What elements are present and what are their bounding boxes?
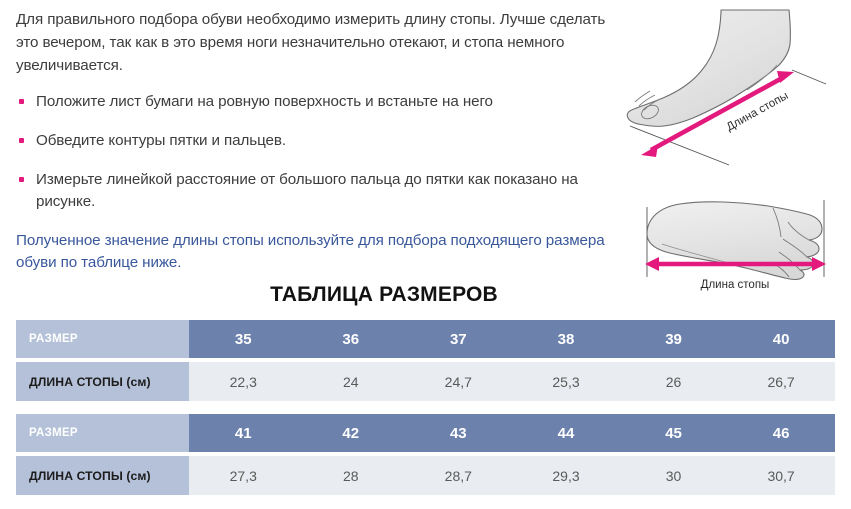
sole-outline [647,202,822,280]
row-label-foot-length: ДЛИНА СТОПЫ (см) [16,362,189,401]
bullet-icon [19,99,24,104]
length-cell: 24 [297,362,404,401]
bullet-icon [19,177,24,182]
row-label-foot-length: ДЛИНА СТОПЫ (см) [16,456,189,495]
length-cell: 28,7 [404,456,512,495]
size-table-block-1: РАЗМЕР 35 36 37 38 39 40 ДЛИНА СТОПЫ (см… [16,320,835,401]
size-cell: 46 [727,414,835,452]
size-cell: 42 [297,414,404,452]
list-item-text: Положите лист бумаги на ровную поверхнос… [36,93,493,110]
foot-side-view-illustration: Длина стопы [617,0,851,178]
row-label-size: РАЗМЕР [16,320,189,358]
size-cell: 38 [512,320,620,358]
instructions-panel: Для правильного подбора обуви необходимо… [16,8,616,274]
size-cell: 39 [620,320,727,358]
bullet-icon [19,138,24,143]
list-item: Положите лист бумаги на ровную поверхнос… [16,91,616,113]
table-row-sizes: РАЗМЕР 41 42 43 44 45 46 [16,414,835,452]
length-cell: 26 [620,362,727,401]
size-cell: 35 [189,320,297,358]
length-cell: 24,7 [404,362,512,401]
length-cell: 26,7 [727,362,835,401]
size-cell: 41 [189,414,297,452]
length-cell: 22,3 [189,362,297,401]
page-title: ТАБЛИЦА РАЗМЕРОВ [0,283,768,307]
size-table-block-2: РАЗМЕР 41 42 43 44 45 46 ДЛИНА СТОПЫ (см… [16,414,835,495]
size-cell: 44 [512,414,620,452]
size-cell: 40 [727,320,835,358]
instruction-list: Положите лист бумаги на ровную поверхнос… [16,91,616,213]
length-cell: 29,3 [512,456,620,495]
list-item-text: Обведите контуры пятки и пальцев. [36,132,286,149]
note-text: Полученное значение длины стопы использу… [16,230,616,274]
size-cell: 45 [620,414,727,452]
size-cell: 36 [297,320,404,358]
size-cell: 37 [404,320,512,358]
size-cell: 43 [404,414,512,452]
table-row-lengths: ДЛИНА СТОПЫ (см) 22,3 24 24,7 25,3 26 26… [16,362,835,401]
table-row-sizes: РАЗМЕР 35 36 37 38 39 40 [16,320,835,358]
row-label-size: РАЗМЕР [16,414,189,452]
length-cell: 30,7 [727,456,835,495]
length-cell: 28 [297,456,404,495]
intro-paragraph: Для правильного подбора обуви необходимо… [16,8,616,77]
list-item-text: Измерьте линейкой расстояние от большого… [36,171,578,210]
table-row-lengths: ДЛИНА СТОПЫ (см) 27,3 28 28,7 29,3 30 30… [16,456,835,495]
list-item: Измерьте линейкой расстояние от большого… [16,169,616,213]
length-cell: 27,3 [189,456,297,495]
length-cell: 25,3 [512,362,620,401]
list-item: Обведите контуры пятки и пальцев. [16,130,616,152]
length-cell: 30 [620,456,727,495]
